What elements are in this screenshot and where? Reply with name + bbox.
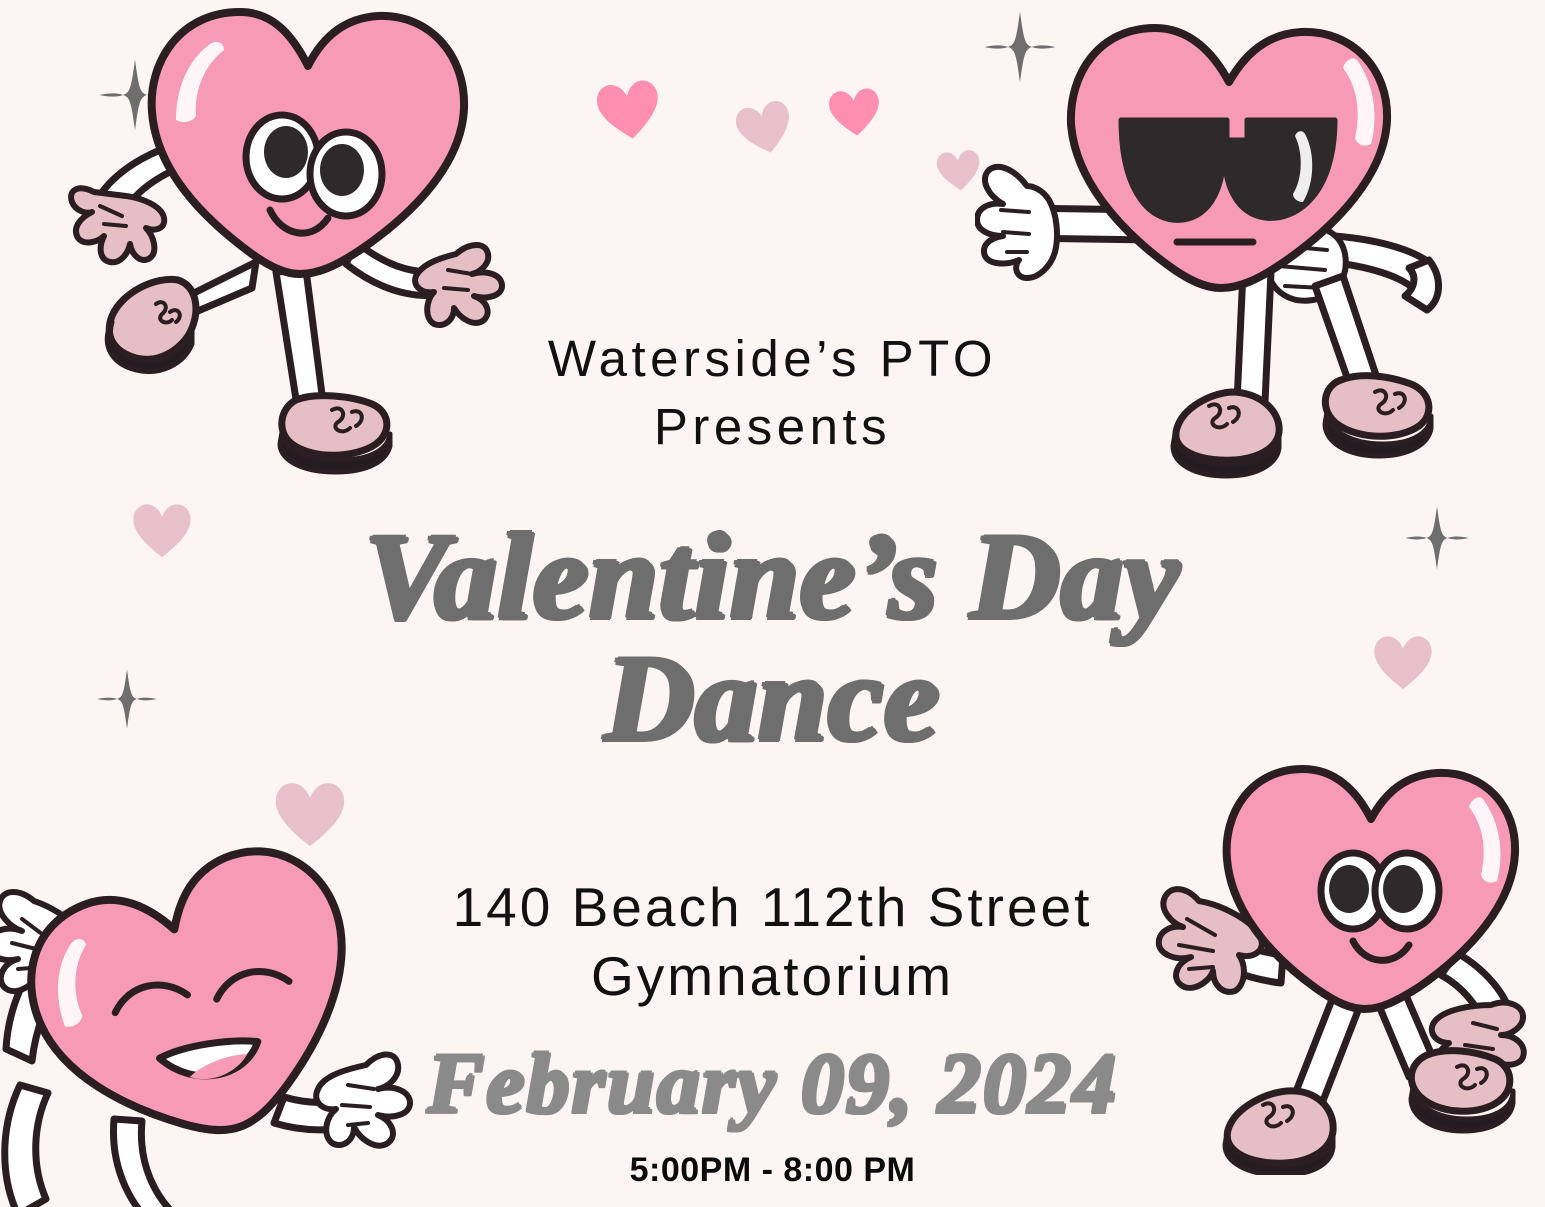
venue-address: 140 Beach 112th Street Gymnatorium	[0, 873, 1545, 1011]
event-time: 5:00PM - 8:00 PM	[0, 1151, 1545, 1190]
event-date: February 09, 2024	[0, 1033, 1545, 1133]
presenter-line: Waterside’s PTO Presents	[0, 325, 1545, 461]
text-layer: Waterside’s PTO Presents Valentine’s Day…	[0, 0, 1545, 1207]
page-title: Valentine’s Day Dance	[0, 516, 1545, 759]
valentines-dance-flyer: Waterside’s PTO Presents Valentine’s Day…	[0, 0, 1545, 1207]
